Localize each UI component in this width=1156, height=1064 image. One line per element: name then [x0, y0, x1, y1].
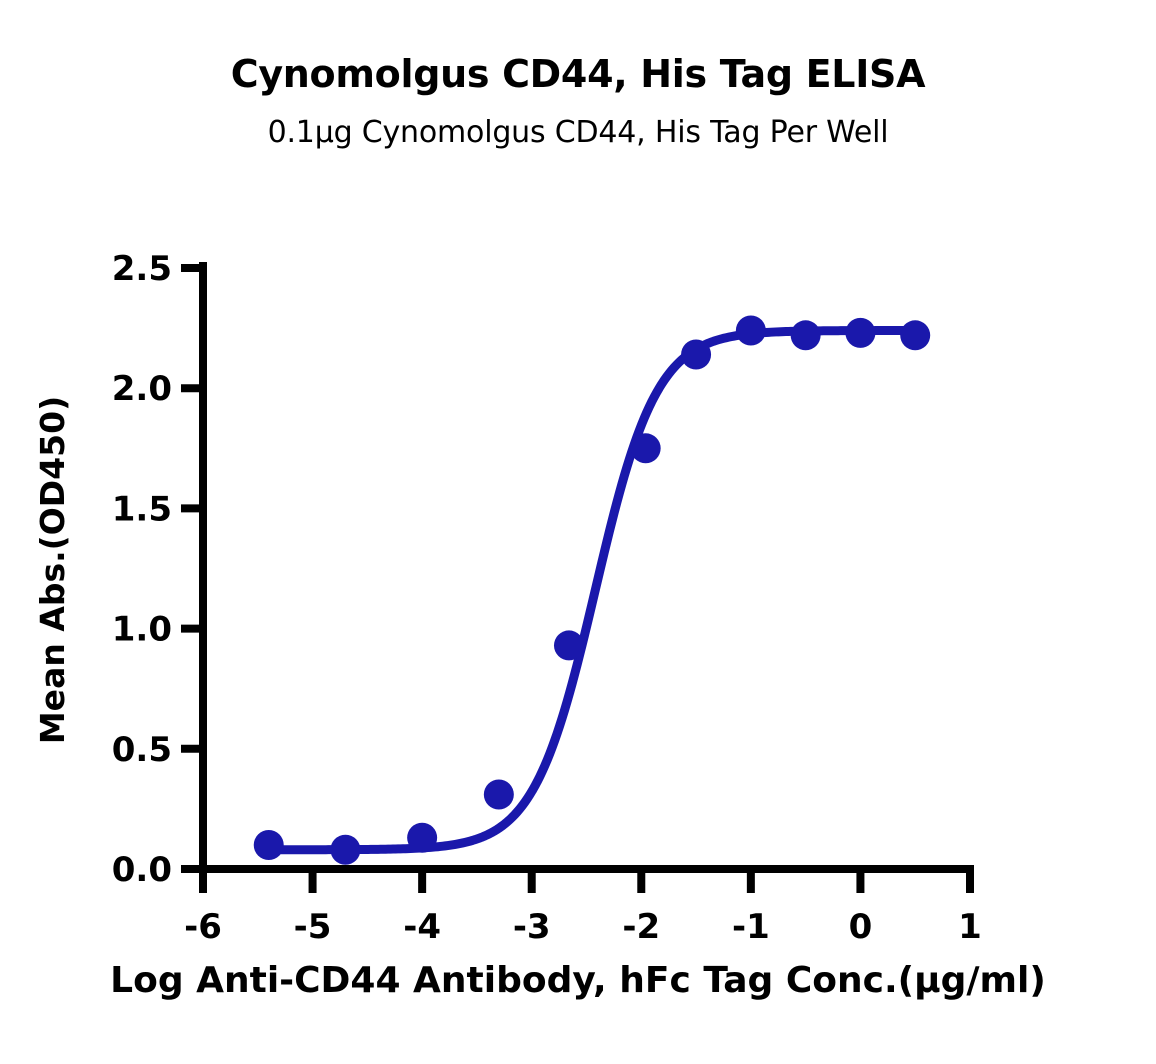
data-point	[484, 779, 514, 809]
y-tick-label: 0.0	[112, 850, 172, 890]
x-tick-label: 0	[849, 907, 873, 947]
data-point	[330, 835, 360, 865]
sigmoid-fit-curve	[269, 331, 915, 850]
data-point	[407, 823, 437, 853]
y-tick-label: 2.0	[112, 369, 172, 409]
data-point	[736, 316, 766, 346]
x-tick-label: -6	[184, 907, 222, 947]
y-tick-label: 2.5	[112, 249, 172, 289]
data-point	[791, 320, 821, 350]
data-point	[900, 320, 930, 350]
x-tick-label: -1	[732, 907, 770, 947]
y-tick-label: 0.5	[112, 730, 172, 770]
x-tick-group: -6-5-4-3-2-101	[184, 867, 982, 947]
x-tick-label: -3	[513, 907, 551, 947]
x-tick-label: -5	[294, 907, 332, 947]
y-tick-label: 1.0	[112, 610, 172, 650]
elisa-chart-figure: Cynomolgus CD44, His Tag ELISA 0.1µg Cyn…	[0, 0, 1156, 1064]
x-tick-label: -2	[622, 907, 660, 947]
x-tick-label: 1	[958, 907, 982, 947]
axis-spines	[199, 262, 974, 869]
data-point	[681, 340, 711, 370]
data-point	[631, 433, 661, 463]
plot-area: 0.00.51.01.52.02.5 -6-5-4-3-2-101	[0, 0, 1156, 1064]
x-tick-label: -4	[403, 907, 441, 947]
y-tick-group: 0.00.51.01.52.02.5	[112, 249, 205, 890]
data-point	[554, 630, 584, 660]
y-tick-label: 1.5	[112, 489, 172, 529]
data-point	[845, 318, 875, 348]
data-point	[254, 830, 284, 860]
